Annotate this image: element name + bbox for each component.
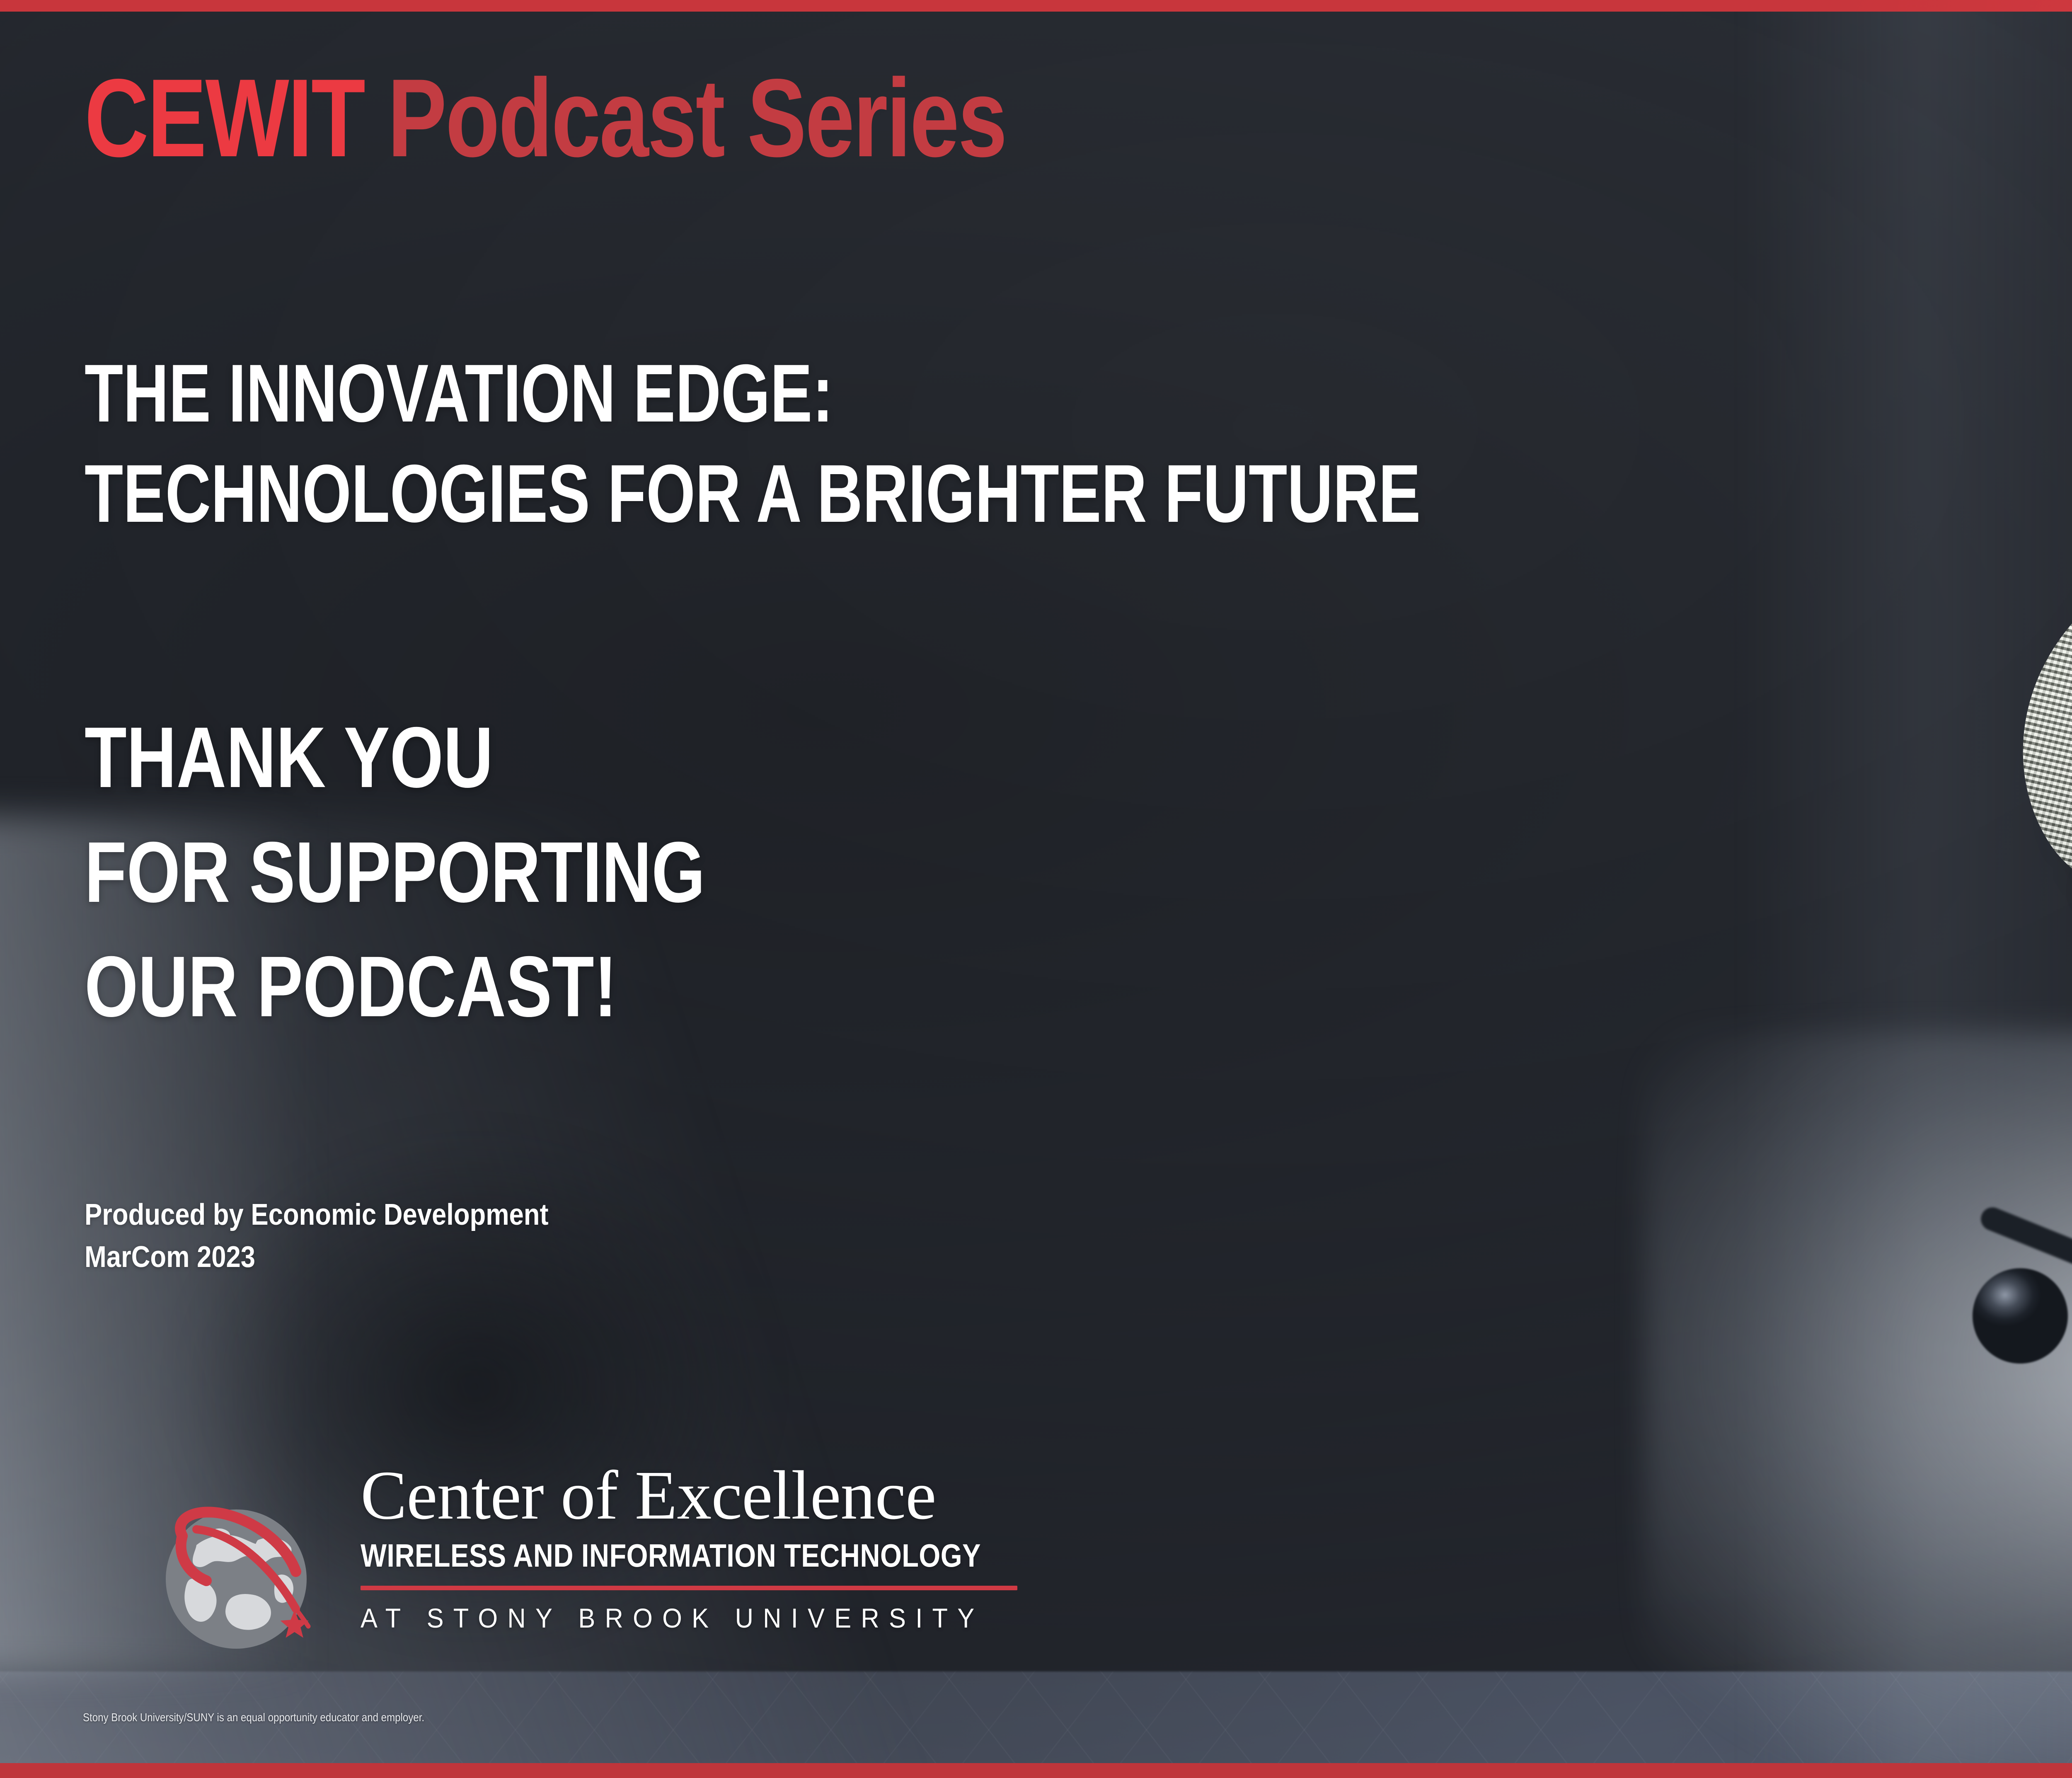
top-bar-gloss	[1833, 0, 2072, 12]
series-title: CEWIT Podcast Series	[85, 62, 1006, 173]
thanks-line-3: OUR PODCAST!	[85, 930, 705, 1044]
credit-line-1: Produced by Economic Development	[85, 1194, 549, 1236]
headline-line-1: THE INNOVATION EDGE:	[85, 343, 1421, 443]
credit-line-2: MarCom 2023	[85, 1236, 549, 1278]
podcast-slide: CEWIT Podcast Series THE INNOVATION EDGE…	[0, 0, 2072, 1778]
logo-subtitle: WIRELESS AND INFORMATION TECHNOLOGY	[361, 1539, 970, 1572]
thank-you-message: THANK YOU FOR SUPPORTING OUR PODCAST!	[85, 700, 705, 1044]
series-title-rest: Podcast Series	[364, 56, 1006, 180]
cewit-logo-lockup: Center of Excellence WIRELESS AND INFORM…	[75, 1451, 1082, 1674]
logo-campus: AT STONY BROOK UNIVERSITY	[361, 1604, 1024, 1632]
headline-line-2: TECHNOLOGIES FOR A BRIGHTER FUTURE	[85, 443, 1421, 544]
thanks-line-1: THANK YOU	[85, 700, 705, 815]
logo-name: Center of Excellence	[361, 1461, 1073, 1530]
eeo-disclaimer: Stony Brook University/SUNY is an equal …	[83, 1711, 424, 1724]
thanks-line-2: FOR SUPPORTING	[85, 815, 705, 930]
bottom-red-bar	[0, 1763, 2072, 1778]
series-title-brand: CEWIT	[85, 56, 364, 180]
episode-headline: THE INNOVATION EDGE: TECHNOLOGIES FOR A …	[85, 343, 1421, 543]
production-credit: Produced by Economic Development MarCom …	[85, 1194, 549, 1278]
slide-content: CEWIT Podcast Series THE INNOVATION EDGE…	[0, 0, 2072, 1778]
globe-orbit-star-icon	[133, 1475, 321, 1663]
logo-wordmark: Center of Excellence WIRELESS AND INFORM…	[361, 1461, 1073, 1632]
top-red-bar	[0, 0, 2072, 12]
logo-divider-rule	[361, 1586, 1017, 1590]
